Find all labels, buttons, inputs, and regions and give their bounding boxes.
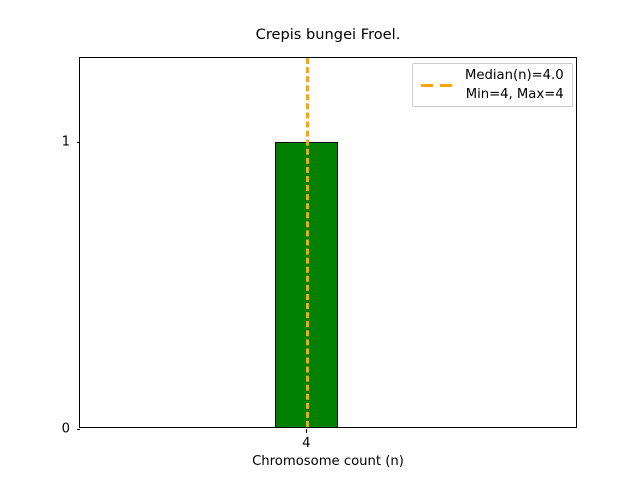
legend-item-text: Median(n)=4.0 Min=4, Max=4 [465, 69, 564, 101]
x-tick-mark [306, 429, 307, 433]
legend-item-median: Median(n)=4.0 Min=4, Max=4 [420, 69, 564, 101]
y-tick-mark [77, 429, 81, 430]
dashed-line-icon [420, 79, 456, 91]
x-tick-label: 4 [302, 437, 310, 450]
plot-axes: 01 4 [79, 57, 577, 428]
y-tick-label: 1 [62, 136, 70, 149]
chart-figure: Crepis bungei Froel. 01 4 Num of counts … [0, 0, 640, 480]
y-tick-label: 0 [62, 422, 70, 435]
y-axis-ticks: 01 [80, 58, 576, 427]
legend-minmax-label: Min=4, Max=4 [466, 88, 564, 101]
legend-median-label: Median(n)=4.0 [465, 69, 564, 82]
chart-legend: Median(n)=4.0 Min=4, Max=4 [412, 63, 573, 107]
y-tick-mark [77, 142, 81, 143]
page-title: Crepis bungei Froel. [79, 28, 577, 43]
x-axis-label: Chromosome count (n) [79, 455, 577, 468]
